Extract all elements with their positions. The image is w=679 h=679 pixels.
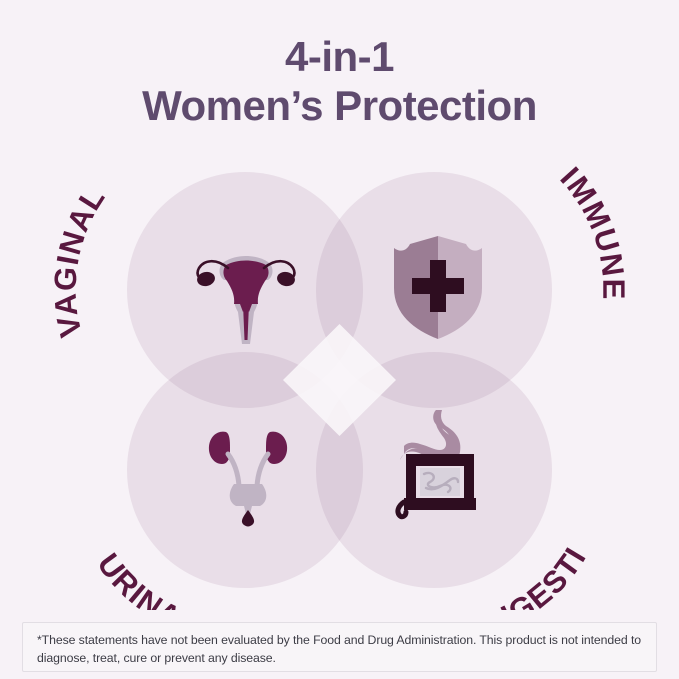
venn-label-immune: IMMUNE bbox=[554, 160, 632, 300]
venn-diagram: VAGINAL IMMUNE URINARY TRACT DIGESTIVE bbox=[0, 150, 679, 610]
venn-label-vaginal: VAGINAL bbox=[47, 180, 112, 340]
urinary-system-icon bbox=[188, 410, 308, 530]
uterus-icon bbox=[186, 232, 306, 352]
title-line-1: 4-in-1 bbox=[0, 34, 679, 79]
venn-circles-svg: VAGINAL IMMUNE URINARY TRACT DIGESTIVE bbox=[0, 150, 679, 610]
title-line-2: Women’s Protection bbox=[0, 83, 679, 128]
shield-plus-icon bbox=[378, 226, 498, 346]
disclaimer-box: *These statements have not been evaluate… bbox=[22, 622, 657, 672]
page-title: 4-in-1 Women’s Protection bbox=[0, 34, 679, 129]
venn-label-vaginal-text: VAGINAL bbox=[47, 180, 112, 340]
digestive-system-icon bbox=[380, 402, 500, 522]
infographic-canvas: 4-in-1 Women’s Protection bbox=[0, 0, 679, 679]
disclaimer-text: *These statements have not been evaluate… bbox=[37, 632, 642, 667]
venn-label-immune-text: IMMUNE bbox=[554, 160, 632, 300]
